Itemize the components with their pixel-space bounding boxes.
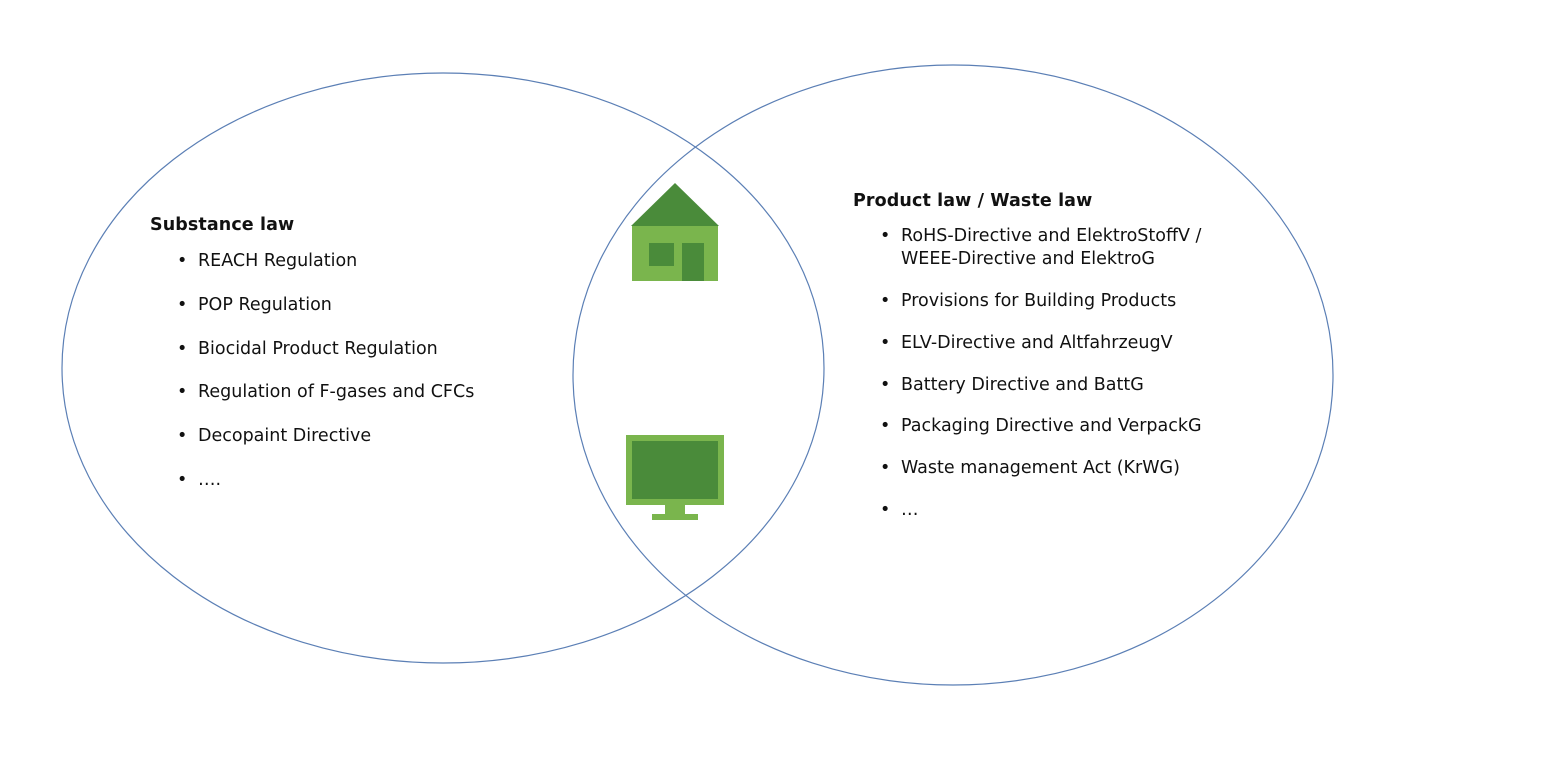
right-group-list: •RoHS-Directive and ElektroStoffV / WEEE… — [853, 225, 1253, 522]
list-item-label: Battery Directive and BattG — [901, 374, 1253, 397]
list-item-label: RoHS-Directive and ElektroStoffV / WEEE-… — [901, 225, 1253, 272]
list-item-label: Biocidal Product Regulation — [198, 338, 550, 361]
bullet-icon: • — [177, 425, 187, 448]
list-item-label: Decopaint Directive — [198, 425, 550, 448]
bullet-icon: • — [880, 374, 890, 397]
list-item: •Battery Directive and BattG — [853, 374, 1253, 397]
list-item-label: Provisions for Building Products — [901, 290, 1253, 313]
list-item: •…. — [150, 469, 550, 492]
venn-diagram: Substance law •REACH Regulation •POP Reg… — [0, 0, 1545, 775]
list-item-label: POP Regulation — [198, 294, 550, 317]
bullet-icon: • — [880, 290, 890, 313]
bullet-icon: • — [177, 338, 187, 361]
bullet-icon: • — [880, 332, 890, 355]
list-item: •Waste management Act (KrWG) — [853, 457, 1253, 480]
bullet-icon: • — [177, 250, 187, 273]
monitor-icon — [625, 435, 725, 520]
bullet-icon: • — [177, 294, 187, 317]
left-group-title: Substance law — [150, 215, 550, 235]
list-item-label: Regulation of F-gases and CFCs — [198, 381, 550, 404]
right-group-title: Product law / Waste law — [853, 191, 1253, 211]
list-item: •RoHS-Directive and ElektroStoffV / WEEE… — [853, 225, 1253, 272]
left-group-block: Substance law •REACH Regulation •POP Reg… — [150, 215, 550, 513]
list-item: •ELV-Directive and AltfahrzeugV — [853, 332, 1253, 355]
bullet-icon: • — [177, 469, 187, 492]
list-item: •… — [853, 499, 1253, 522]
list-item: •Packaging Directive and VerpackG — [853, 415, 1253, 438]
list-item-label: ELV-Directive and AltfahrzeugV — [901, 332, 1253, 355]
list-item: •Provisions for Building Products — [853, 290, 1253, 313]
house-icon-graphic — [631, 183, 719, 281]
list-item: •POP Regulation — [150, 294, 550, 317]
house-icon — [631, 183, 719, 281]
bullet-icon: • — [880, 499, 890, 522]
list-item-label: Packaging Directive and VerpackG — [901, 415, 1253, 438]
list-item: •Biocidal Product Regulation — [150, 338, 550, 361]
bullet-icon: • — [177, 381, 187, 404]
monitor-icon-graphic — [625, 435, 725, 520]
left-group-list: •REACH Regulation •POP Regulation •Bioci… — [150, 250, 550, 492]
bullet-icon: • — [880, 457, 890, 480]
list-item: •Regulation of F-gases and CFCs — [150, 381, 550, 404]
list-item-label: Waste management Act (KrWG) — [901, 457, 1253, 480]
list-item: •REACH Regulation — [150, 250, 550, 273]
list-item-label: … — [901, 499, 1253, 522]
bullet-icon: • — [880, 415, 890, 438]
list-item-label: REACH Regulation — [198, 250, 550, 273]
bullet-icon: • — [880, 225, 890, 248]
list-item-label: …. — [198, 469, 550, 492]
right-group-block: Product law / Waste law •RoHS-Directive … — [853, 191, 1253, 541]
list-item: •Decopaint Directive — [150, 425, 550, 448]
